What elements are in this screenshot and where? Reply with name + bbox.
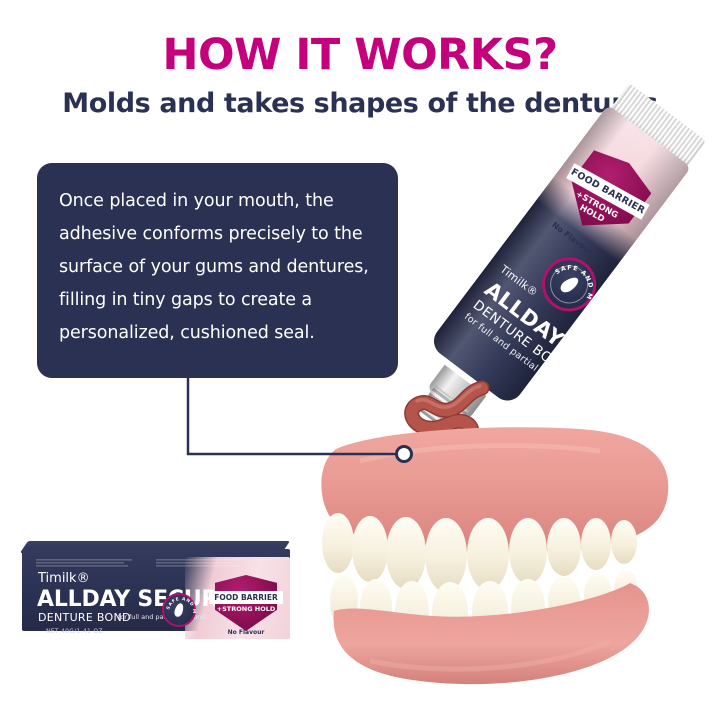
carton-food-barrier-badge: FOOD BARRIER +STRONG HOLD <box>215 575 277 631</box>
carton-front-face: Timilk® ALLDAY SECURE DENTURE BOND for f… <box>22 549 290 631</box>
denture-model <box>300 415 720 710</box>
carton-seal-text: SAFE AND MILD <box>164 595 197 614</box>
carton-badge-title-text: FOOD BARRIER <box>209 591 283 604</box>
product-tube: FOOD BARRIER +STRONG HOLD No Flavour SAF… <box>404 96 720 426</box>
carton-flavour-text: No Flavour <box>218 629 274 636</box>
callout-box: Once placed in your mouth, the adhesive … <box>37 163 398 378</box>
carton-fineprint <box>36 559 276 569</box>
carton-badge-subtitle-text: +STRONG HOLD <box>215 605 277 613</box>
callout-text: Once placed in your mouth, the adhesive … <box>59 185 374 350</box>
tube-body: FOOD BARRIER +STRONG HOLD No Flavour SAF… <box>428 105 692 407</box>
carton-seal-text-ring: SAFE AND MILD <box>164 595 198 629</box>
page-title: HOW IT WORKS? <box>0 30 720 80</box>
infographic-canvas: HOW IT WORKS? Molds and takes shapes of … <box>0 0 720 720</box>
carton-brand: Timilk® <box>38 571 90 586</box>
carton-badge-title-band: FOOD BARRIER <box>209 591 283 604</box>
carton-net-weight: NET 40G/1.41 OZ <box>46 628 103 635</box>
svg-text:SAFE AND MILD: SAFE AND MILD <box>164 595 197 614</box>
carton-product-name: ALLDAY SECURE <box>37 587 233 612</box>
carton-safe-and-mild-seal: SAFE AND MILD <box>162 593 196 627</box>
carton-product-subname: DENTURE BOND <box>38 611 131 624</box>
product-carton: Timilk® ALLDAY SECURE DENTURE BOND for f… <box>22 541 290 639</box>
